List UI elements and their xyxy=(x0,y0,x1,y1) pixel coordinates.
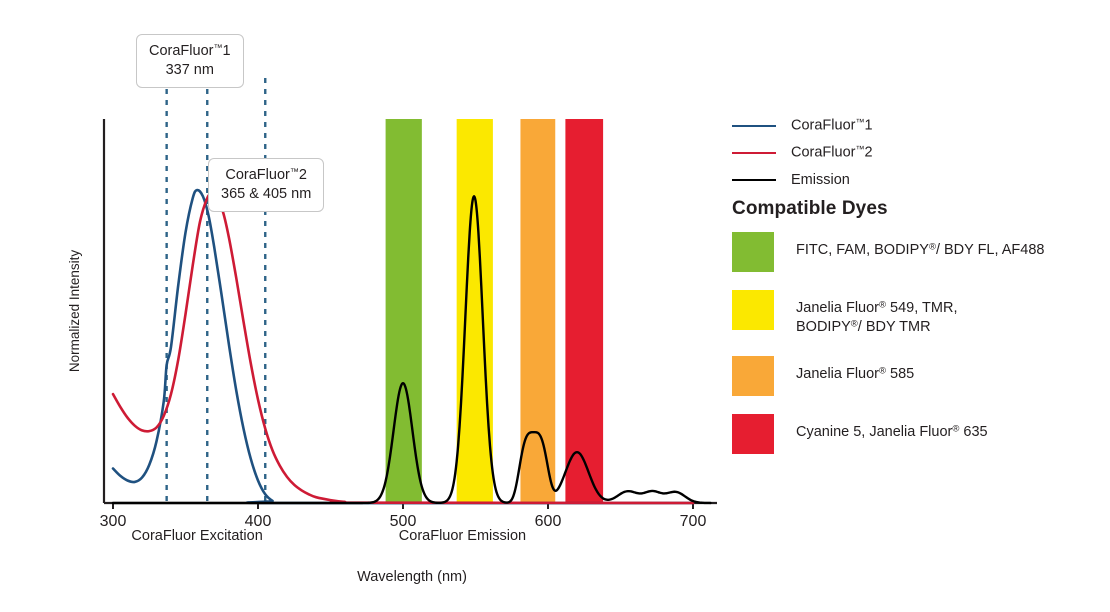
chart-area: 300400500600700CoraFluor ExcitationCoraF… xyxy=(0,0,730,612)
yellow-band xyxy=(457,119,493,503)
dye-color-swatch xyxy=(732,290,774,330)
dye-label-line1: Janelia Fluor® 585 xyxy=(796,366,914,382)
x-tick-label-600: 600 xyxy=(535,513,562,530)
dye-color-swatch xyxy=(732,356,774,396)
compatible-dyes-title: Compatible Dyes xyxy=(732,198,888,220)
y-axis-title: Normalized Intensity xyxy=(67,250,82,373)
red-band xyxy=(565,119,603,503)
callout-corafluor1: CoraFluor™1 337 nm xyxy=(136,34,244,88)
trademark-symbol: ® xyxy=(879,300,886,311)
dye-row: Janelia Fluor® 585 xyxy=(732,356,1110,396)
dye-label-line1: Janelia Fluor® 549, TMR, xyxy=(796,300,957,316)
trademark-symbol: ™ xyxy=(855,117,864,127)
legend-label: CoraFluor™1 xyxy=(791,117,873,134)
callout-corafluor1-line1: CoraFluor™1 xyxy=(149,42,231,61)
series-legend: CoraFluor™1CoraFluor™2Emission xyxy=(732,112,873,193)
x-tick-label-300: 300 xyxy=(100,513,127,530)
callout-corafluor2: CoraFluor™2 365 & 405 nm xyxy=(208,158,324,212)
spectra-plot: 300400500600700CoraFluor ExcitationCoraF… xyxy=(0,0,730,612)
legend-line-swatch xyxy=(732,152,776,154)
legend-label: CoraFluor™2 xyxy=(791,144,873,161)
x-tick-label-700: 700 xyxy=(680,513,707,530)
trademark-symbol: ® xyxy=(851,319,858,330)
legend-row: CoraFluor™1 xyxy=(732,112,873,139)
trademark-symbol: ® xyxy=(952,424,959,435)
callout-corafluor2-line2: 365 & 405 nm xyxy=(221,185,311,204)
trademark-symbol: ® xyxy=(929,242,936,253)
region-label-1: CoraFluor Emission xyxy=(399,528,526,544)
x-axis-title: Wavelength (nm) xyxy=(357,569,467,585)
dye-color-swatch xyxy=(732,414,774,454)
orange-band xyxy=(520,119,555,503)
legend-line-swatch xyxy=(732,125,776,127)
dye-label-line2: BODIPY®/ BDY TMR xyxy=(796,318,957,337)
trademark-symbol: ™ xyxy=(213,42,222,52)
legend-row: Emission xyxy=(732,166,873,193)
legend-line-swatch xyxy=(732,179,776,181)
dye-row: FITC, FAM, BODIPY®/ BDY FL, AF488 xyxy=(732,232,1110,272)
dye-label-line1: FITC, FAM, BODIPY®/ BDY FL, AF488 xyxy=(796,242,1044,258)
dye-label: FITC, FAM, BODIPY®/ BDY FL, AF488 xyxy=(796,232,1044,260)
right-panel: CoraFluor™1CoraFluor™2Emission Compatibl… xyxy=(728,0,1110,612)
trademark-symbol: ™ xyxy=(855,144,864,154)
callout-corafluor1-line2: 337 nm xyxy=(149,61,231,80)
figure-root: 300400500600700CoraFluor ExcitationCoraF… xyxy=(0,0,1110,612)
compatible-dyes-list: FITC, FAM, BODIPY®/ BDY FL, AF488Janelia… xyxy=(732,232,1110,472)
dye-label: Janelia Fluor® 585 xyxy=(796,356,914,384)
trademark-symbol: ® xyxy=(879,366,886,377)
dye-label: Cyanine 5, Janelia Fluor® 635 xyxy=(796,414,988,442)
callout-corafluor2-line1: CoraFluor™2 xyxy=(221,166,311,185)
dye-label-line1: Cyanine 5, Janelia Fluor® 635 xyxy=(796,424,988,440)
trademark-symbol: ™ xyxy=(290,166,299,176)
dye-color-swatch xyxy=(732,232,774,272)
region-label-0: CoraFluor Excitation xyxy=(131,528,262,544)
dye-label: Janelia Fluor® 549, TMR,BODIPY®/ BDY TMR xyxy=(796,290,957,338)
legend-label: Emission xyxy=(791,172,850,188)
dye-row: Cyanine 5, Janelia Fluor® 635 xyxy=(732,414,1110,454)
legend-row: CoraFluor™2 xyxy=(732,139,873,166)
dye-row: Janelia Fluor® 549, TMR,BODIPY®/ BDY TMR xyxy=(732,290,1110,338)
